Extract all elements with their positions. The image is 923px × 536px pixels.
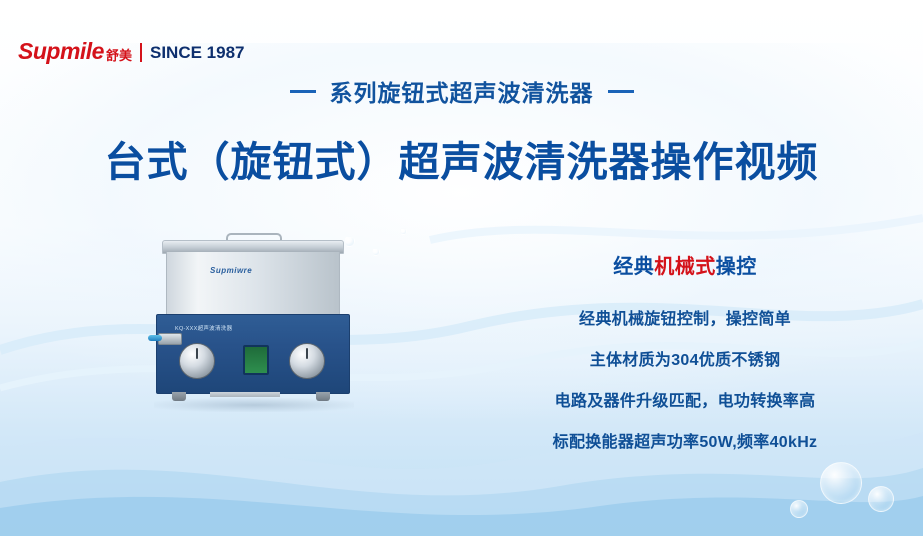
dash-left-icon [290,90,316,93]
drain-valve-handle [148,335,162,341]
machine-shadow [154,398,354,412]
drain-valve [148,332,180,344]
bubble-decoration [868,486,894,512]
brand-since-label: SINCE 1987 [150,43,245,63]
machine-tank [166,252,340,314]
panel-model-label: KQ-XXX超声波清洗器 [175,324,232,332]
slide-canvas: Supmile 舒美 SINCE 1987 系列旋钮式超声波清洗器 台式（旋钮式… [0,0,923,536]
feature-item: 经典机械旋钮控制，操控简单 [470,305,900,329]
feature-heading-highlight: 机械式 [654,256,716,278]
page-title: 台式（旋钮式）超声波清洗器操作视频 [0,128,923,188]
heater-knob-icon [289,343,325,379]
feature-heading-post: 操控 [716,256,757,278]
bubble-decoration [372,248,380,256]
machine-brand-text: Supmiwre [210,266,252,275]
brand-logo-mark: Supmile [18,40,104,63]
feature-heading: 经典机械式操控 [470,250,900,279]
feature-item: 标配换能器超声功率50W,频率40kHz [470,428,900,452]
timer-knob-icon [179,343,215,379]
panel-display [243,345,269,375]
bubble-decoration [400,228,407,235]
bubble-decoration [790,500,808,518]
dash-right-icon [608,90,634,93]
brand-logo-divider [140,43,142,62]
feature-list: 经典机械式操控 经典机械旋钮控制，操控简单 主体材质为304优质不锈钢 电路及器… [470,250,900,469]
machine-control-panel: KQ-XXX超声波清洗器 [156,314,350,394]
feature-item: 主体材质为304优质不锈钢 [470,346,900,370]
subtitle-text: 系列旋钮式超声波清洗器 [330,74,594,108]
brand-logo-chinese: 舒美 [106,45,132,64]
feature-item: 电路及器件升级匹配，电功转换率高 [470,387,900,411]
feature-heading-pre: 经典 [613,256,654,278]
brand-logo: Supmile 舒美 SINCE 1987 [18,38,244,64]
machine-base [210,392,280,397]
subtitle-row: 系列旋钮式超声波清洗器 [0,74,923,108]
ultrasonic-cleaner-illustration: Supmiwre KQ-XXX超声波清洗器 [148,240,363,425]
